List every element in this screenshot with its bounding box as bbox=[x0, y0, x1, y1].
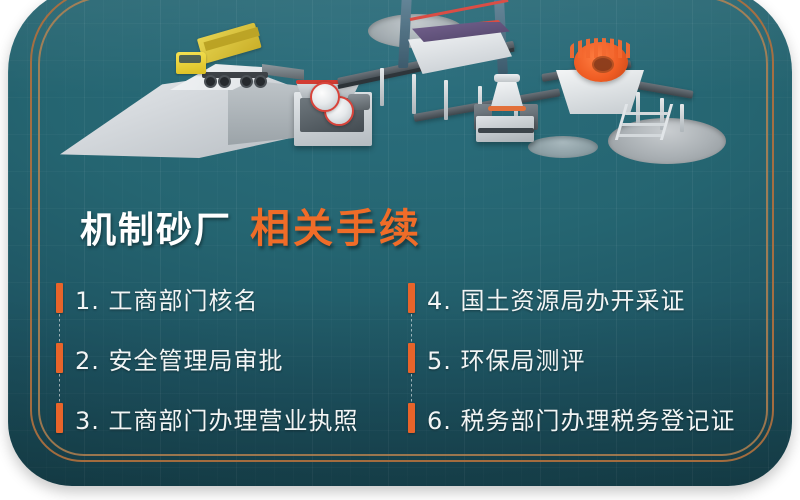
conveyor-support-leg-icon bbox=[380, 68, 384, 106]
sand-pile-icon bbox=[528, 136, 598, 158]
production-line-illustration bbox=[8, 0, 792, 186]
conveyor-support-leg-icon bbox=[412, 74, 416, 114]
list-marker-icon bbox=[56, 283, 63, 313]
sand-maker-ring-icon bbox=[488, 106, 526, 111]
list-item[interactable]: 3. 工商部门办理营业执照 bbox=[56, 388, 359, 448]
list-item[interactable]: 2. 安全管理局审批 bbox=[56, 328, 359, 388]
list-marker-icon bbox=[408, 283, 415, 313]
truck-wheel-icon bbox=[254, 75, 267, 88]
sand-maker-inlet-icon bbox=[494, 74, 520, 82]
truck-wheel-icon bbox=[218, 75, 231, 88]
truck-wheel-icon bbox=[204, 75, 217, 88]
title-highlight: 相关手续 bbox=[250, 196, 422, 254]
truck-wheel-icon bbox=[240, 75, 253, 88]
list-marker-icon bbox=[408, 403, 415, 433]
sand-maker-base-bar-icon bbox=[478, 128, 534, 133]
banner-stage: 机制砂厂 相关手续 1. 工商部门核名 2. 安全管理局审批 3. 工商部门办理… bbox=[0, 0, 800, 500]
list-item-label: 5. 环保局测评 bbox=[427, 341, 586, 376]
procedure-column-right: 4. 国土资源局办开采证 5. 环保局测评 6. 税务部门办理税务登记证 bbox=[408, 268, 736, 448]
sand-washer-hub-icon bbox=[592, 56, 614, 73]
conveyor-support-leg-icon bbox=[680, 104, 684, 132]
title-primary: 机制砂厂 bbox=[80, 201, 232, 253]
list-item-label: 1. 工商部门核名 bbox=[75, 281, 259, 316]
list-item[interactable]: 4. 国土资源局办开采证 bbox=[408, 268, 736, 328]
list-item-label: 2. 安全管理局审批 bbox=[75, 341, 284, 376]
list-item-label: 6. 税务部门办理税务登记证 bbox=[427, 401, 736, 436]
truck-window-icon bbox=[179, 55, 201, 63]
list-item-label: 4. 国土资源局办开采证 bbox=[427, 281, 686, 316]
list-item[interactable]: 6. 税务部门办理税务登记证 bbox=[408, 388, 736, 448]
crusher-flywheel-icon bbox=[310, 82, 340, 112]
procedure-column-left: 1. 工商部门核名 2. 安全管理局审批 3. 工商部门办理营业执照 bbox=[56, 268, 359, 448]
list-marker-icon bbox=[408, 343, 415, 373]
list-item[interactable]: 1. 工商部门核名 bbox=[56, 268, 359, 328]
procedure-list: 1. 工商部门核名 2. 安全管理局审批 3. 工商部门办理营业执照 4. 国土… bbox=[0, 268, 800, 458]
list-item-label: 3. 工商部门办理营业执照 bbox=[75, 401, 359, 436]
list-marker-icon bbox=[56, 343, 63, 373]
page-title: 机制砂厂 相关手续 bbox=[80, 196, 422, 254]
list-item[interactable]: 5. 环保局测评 bbox=[408, 328, 736, 388]
list-marker-icon bbox=[56, 403, 63, 433]
sand-washer-wheel-teeth-icon bbox=[570, 38, 632, 58]
conveyor-support-leg-icon bbox=[444, 80, 448, 120]
